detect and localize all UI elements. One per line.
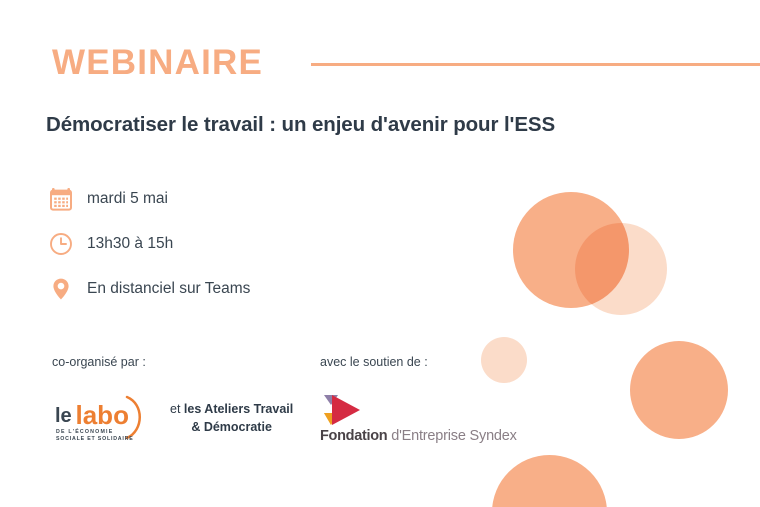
poster-header: WEBINAIRE [52,45,760,80]
event-time-text: 13h30 à 15h [87,236,173,252]
syndex-word-rest: d'Entreprise Syndex [387,428,516,444]
organizers-column: co-organisé par : le labo DE L'ÉCONOMIE … [52,355,320,445]
event-detail-location: En distanciel sur Teams [49,276,250,302]
event-details-list: mardi 5 mai 13h30 à 15h [49,186,250,302]
poster-eyebrow: WEBINAIRE [52,45,263,80]
svg-text:SOCIALE ET SOLIDAIRE: SOCIALE ET SOLIDAIRE [56,436,134,442]
event-date-text: mardi 5 mai [87,191,168,207]
decorative-circle-large-orange [513,192,629,308]
support-label: avec le soutien de : [320,355,520,369]
decorative-circle-bottom-orange [492,455,607,507]
poster-footer: co-organisé par : le labo DE L'ÉCONOMIE … [52,355,522,445]
partner-name-line2: & Démocratie [191,420,272,434]
organizers-label: co-organisé par : [52,355,320,369]
calendar-icon [49,187,73,211]
decorative-circle-large-light [575,223,667,315]
svg-text:labo: labo [76,400,129,430]
partner-lead-text: et [170,402,184,416]
svg-text:le: le [55,405,72,427]
event-location-text: En distanciel sur Teams [87,281,250,297]
location-pin-icon [49,277,73,301]
decorative-circle-right-orange [630,341,728,439]
event-detail-date: mardi 5 mai [49,186,250,212]
syndex-arrow-icon [322,393,364,427]
event-detail-time: 13h30 à 15h [49,231,250,257]
fondation-syndex-wordmark: Fondation d'Entreprise Syndex [320,429,517,444]
partner-name-line1: les Ateliers Travail [184,402,293,416]
poster-title: Démocratiser le travail : un enjeu d'ave… [46,113,555,137]
header-divider-rule [311,63,760,66]
partner-organizer-name: et les Ateliers Travail & Démocratie [170,401,293,437]
support-column: avec le soutien de : Fondation d'Entre [320,355,520,445]
webinar-poster: WEBINAIRE Démocratiser le travail : un e… [0,0,760,507]
clock-icon [49,232,73,256]
syndex-word-bold: Fondation [320,428,387,444]
le-labo-logo: le labo DE L'ÉCONOMIE SOCIALE ET SOLIDAI… [52,393,152,445]
